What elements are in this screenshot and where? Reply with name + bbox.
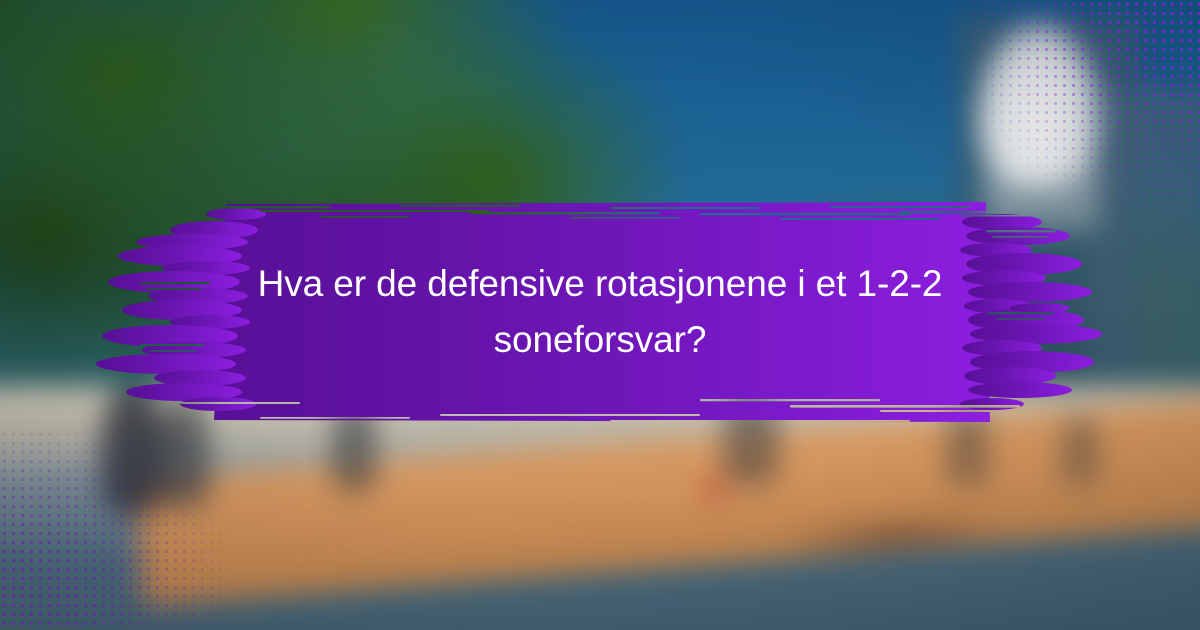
social-card: Hva er de defensive rotasjonene i et 1-2… bbox=[0, 0, 1200, 630]
headline-text: Hva er de defensive rotasjonene i et 1-2… bbox=[200, 196, 1000, 428]
